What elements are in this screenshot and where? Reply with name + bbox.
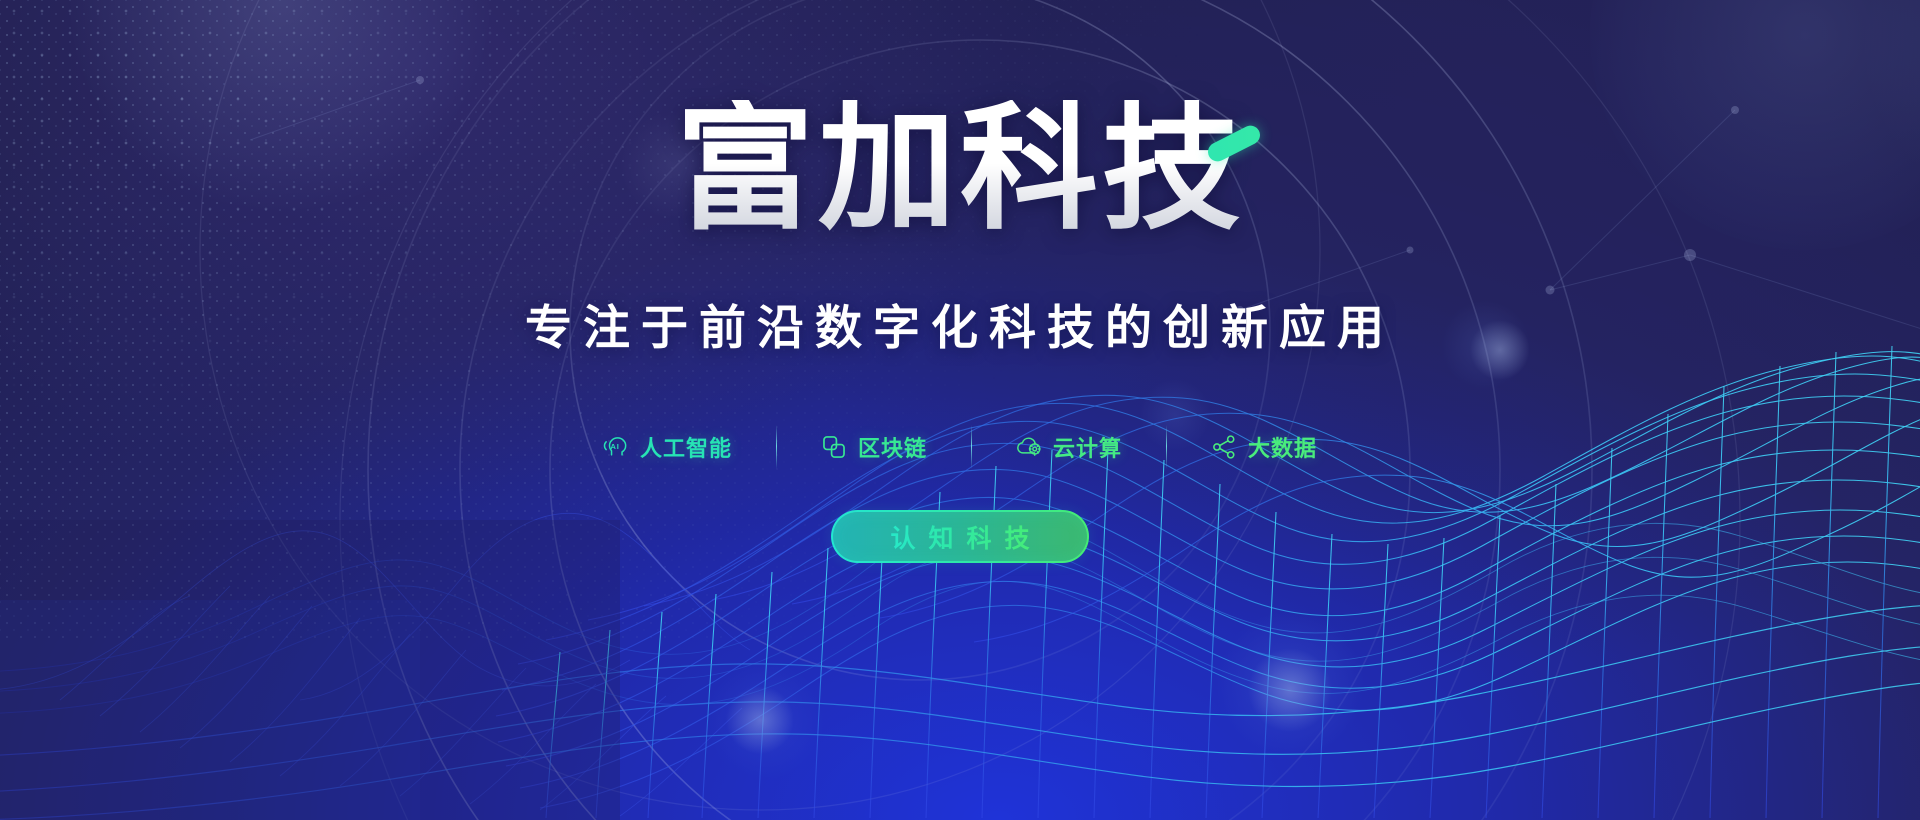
feature-tag-label: 云计算: [1053, 431, 1122, 463]
brand-logo: 富加科技: [0, 100, 1920, 238]
svg-text:AI: AI: [610, 442, 619, 451]
feature-tag-label: 人工智能: [640, 431, 732, 463]
hero-banner: 富加科技 专注于前沿数字化科技的创新应用 AI 人工智能: [0, 0, 1920, 820]
logo-text: 富加科技: [676, 100, 1244, 238]
cta-button-label: 认知科技: [877, 519, 1042, 555]
blockchain-blocks-icon: [821, 434, 847, 460]
hero-content: 富加科技 专注于前沿数字化科技的创新应用 AI 人工智能: [0, 0, 1920, 820]
feature-tag-ai[interactable]: AI 人工智能: [559, 431, 776, 463]
feature-tag-blockchain[interactable]: 区块链: [777, 431, 971, 463]
feature-tag-list: AI 人工智能 区块链: [0, 425, 1920, 469]
feature-tag-label: 大数据: [1248, 431, 1317, 463]
cognitive-tech-button[interactable]: 认知科技: [831, 510, 1089, 563]
ai-head-icon: AI: [603, 434, 629, 460]
hero-subtitle: 专注于前沿数字化科技的创新应用: [0, 289, 1920, 358]
share-nodes-icon: [1211, 434, 1237, 460]
feature-tag-bigdata[interactable]: 大数据: [1167, 431, 1361, 463]
cloud-gear-icon: [1016, 434, 1042, 460]
cta-row: 认知科技: [0, 510, 1920, 563]
feature-tag-cloud[interactable]: 云计算: [972, 431, 1166, 463]
feature-tag-label: 区块链: [858, 431, 927, 463]
